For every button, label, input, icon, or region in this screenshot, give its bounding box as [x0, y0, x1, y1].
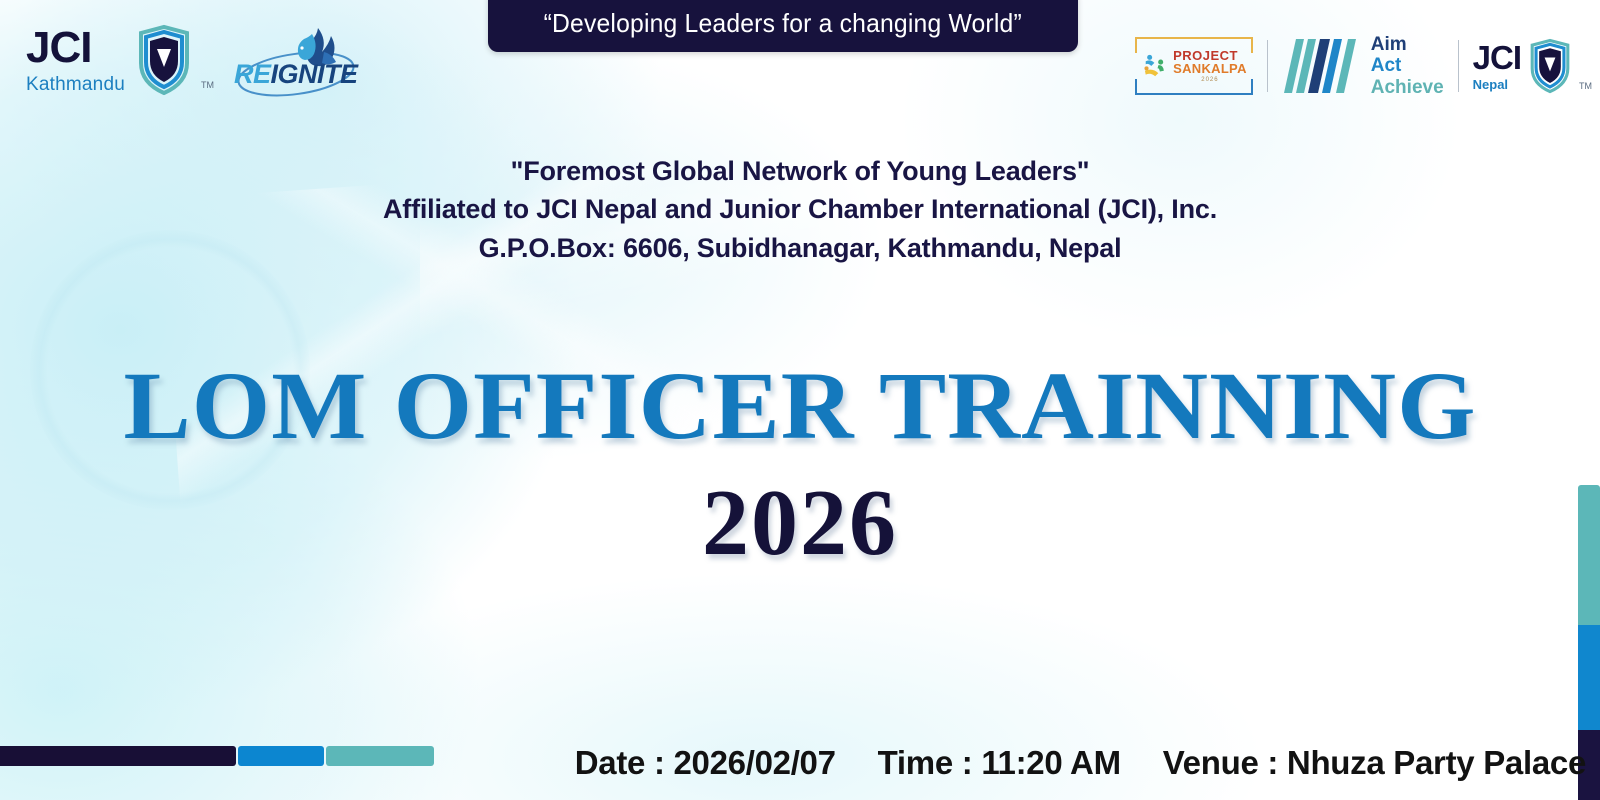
event-title: LOM OFFICER TRAINNING — [0, 358, 1600, 454]
jci-nepal-logo: JCI Nepal TM — [1473, 37, 1592, 95]
logo-divider-2 — [1458, 40, 1459, 92]
logo-cluster-left: JCI Kathmandu TM REIGNITE — [26, 22, 362, 98]
aaa-line2: Act — [1371, 55, 1444, 76]
address-line-3: G.P.O.Box: 6606, Subidhanagar, Kathmandu… — [0, 229, 1600, 267]
event-year: 2026 — [0, 476, 1600, 570]
project-sankalpa-logo: PROJECT SANKALPA 2026 — [1135, 35, 1253, 97]
sankalpa-people-icon — [1141, 48, 1169, 84]
aaa-line3: Achieve — [1371, 77, 1444, 98]
event-details-bar: Date : 2026/02/07 Time : 11:20 AM Venue … — [0, 744, 1600, 782]
tagline-text: “Developing Leaders for a changing World… — [544, 8, 1022, 39]
event-banner: “Developing Leaders for a changing World… — [0, 0, 1600, 800]
jci-shield-icon — [133, 23, 195, 97]
event-date: Date : 2026/02/07 — [575, 744, 836, 782]
jci-nepal-trademark: TM — [1579, 81, 1592, 91]
event-time: Time : 11:20 AM — [878, 744, 1121, 782]
logo-cluster-right: PROJECT SANKALPA 2026 Aim Act Achieve — [1135, 34, 1592, 98]
event-title-block: LOM OFFICER TRAINNING 2026 — [0, 358, 1600, 570]
accent-vsegment-teal — [1578, 485, 1600, 625]
trademark-mark: TM — [201, 80, 214, 90]
logo-divider-1 — [1267, 40, 1268, 92]
sankalpa-line2: SANKALPA — [1173, 62, 1247, 76]
jci-kathmandu-logo: JCI Kathmandu — [26, 26, 125, 94]
aaa-monogram-icon — [1282, 37, 1364, 95]
organization-address-block: "Foremost Global Network of Young Leader… — [0, 152, 1600, 267]
event-venue: Venue : Nhuza Party Palace — [1163, 744, 1586, 782]
address-line-1: "Foremost Global Network of Young Leader… — [0, 152, 1600, 190]
aaa-line1: Aim — [1371, 34, 1444, 55]
tagline-banner: “Developing Leaders for a changing World… — [488, 0, 1078, 52]
reignite-wordmark: REIGNITE — [234, 59, 358, 90]
sankalpa-year: 2026 — [1173, 77, 1247, 83]
accent-vsegment-blue — [1578, 625, 1600, 730]
jci-wordmark-text: JCI — [26, 26, 125, 70]
reignite-logo: REIGNITE — [232, 22, 362, 98]
jci-nepal-wordmark: JCI — [1473, 41, 1521, 74]
aim-act-achieve-logo: Aim Act Achieve — [1282, 34, 1444, 98]
jci-kathmandu-sub-text: Kathmandu — [26, 75, 125, 94]
address-line-2: Affiliated to JCI Nepal and Junior Chamb… — [0, 190, 1600, 228]
sankalpa-line1: PROJECT — [1173, 49, 1247, 63]
jci-nepal-shield-icon — [1526, 37, 1574, 95]
jci-nepal-sub-text: Nepal — [1473, 78, 1521, 91]
